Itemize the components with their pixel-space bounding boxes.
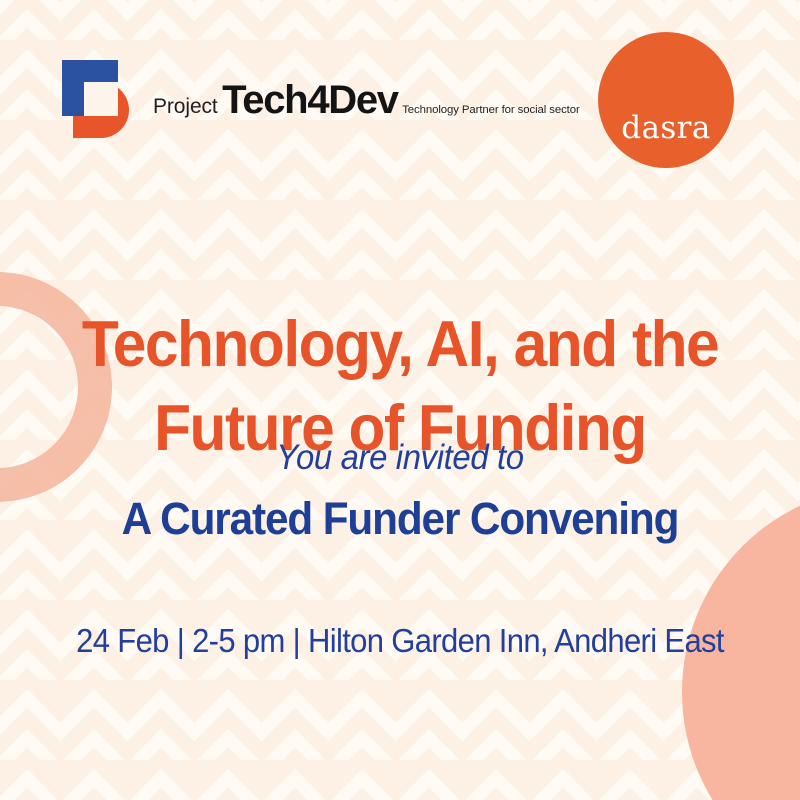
tech4dev-logo: Project Tech4Dev Technology Partner for … [62, 60, 580, 138]
dasra-wordmark: dasra [598, 113, 734, 144]
tech4dev-name: Tech4Dev [222, 78, 398, 122]
tech4dev-project-label: Project [153, 95, 218, 118]
tech4dev-tagline: Technology Partner for social sector [402, 104, 579, 116]
event-subheadline: A Curated Funder Convening [24, 492, 776, 546]
invite-line: You are invited to [24, 437, 776, 479]
event-invitation-poster: Project Tech4Dev Technology Partner for … [0, 0, 800, 800]
event-details-line: 24 Feb | 2-5 pm | Hilton Garden Inn, And… [24, 621, 776, 661]
tech4dev-mark-icon [62, 60, 140, 138]
dasra-logo: dasra [598, 32, 734, 168]
headline-line-1: Technology, AI, and the [28, 302, 772, 387]
